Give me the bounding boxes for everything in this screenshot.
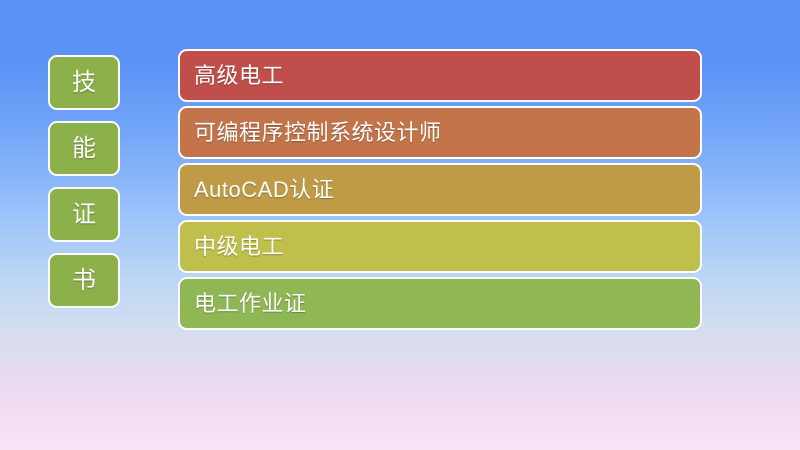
- certificate-bar-2[interactable]: AutoCAD认证: [178, 163, 702, 216]
- certificate-bar-3[interactable]: 中级电工: [178, 220, 702, 273]
- slide-canvas: 技 能 证 书 高级电工 可编程序控制系统设计师 AutoCAD认证 中级电工 …: [0, 0, 800, 450]
- certificate-bar-1[interactable]: 可编程序控制系统设计师: [178, 106, 702, 159]
- certificate-bar-label: 电工作业证: [194, 293, 307, 315]
- certificate-bar-label: 高级电工: [194, 65, 284, 87]
- left-chip-label: 书: [72, 269, 96, 293]
- certificate-bar-0[interactable]: 高级电工: [178, 49, 702, 102]
- left-chip-1[interactable]: 能: [48, 121, 120, 176]
- left-chip-label: 能: [72, 137, 96, 161]
- left-chip-3[interactable]: 书: [48, 253, 120, 308]
- certificate-bar-list: 高级电工 可编程序控制系统设计师 AutoCAD认证 中级电工 电工作业证: [178, 49, 702, 330]
- certificate-bar-label: 中级电工: [194, 236, 284, 258]
- skill-certificate-label-column: 技 能 证 书: [48, 55, 120, 308]
- left-chip-2[interactable]: 证: [48, 187, 120, 242]
- left-chip-label: 技: [72, 71, 96, 95]
- left-chip-0[interactable]: 技: [48, 55, 120, 110]
- certificate-bar-4[interactable]: 电工作业证: [178, 277, 702, 330]
- left-chip-label: 证: [72, 203, 96, 227]
- certificate-bar-label: AutoCAD认证: [194, 179, 334, 201]
- certificate-bar-label: 可编程序控制系统设计师: [194, 122, 442, 144]
